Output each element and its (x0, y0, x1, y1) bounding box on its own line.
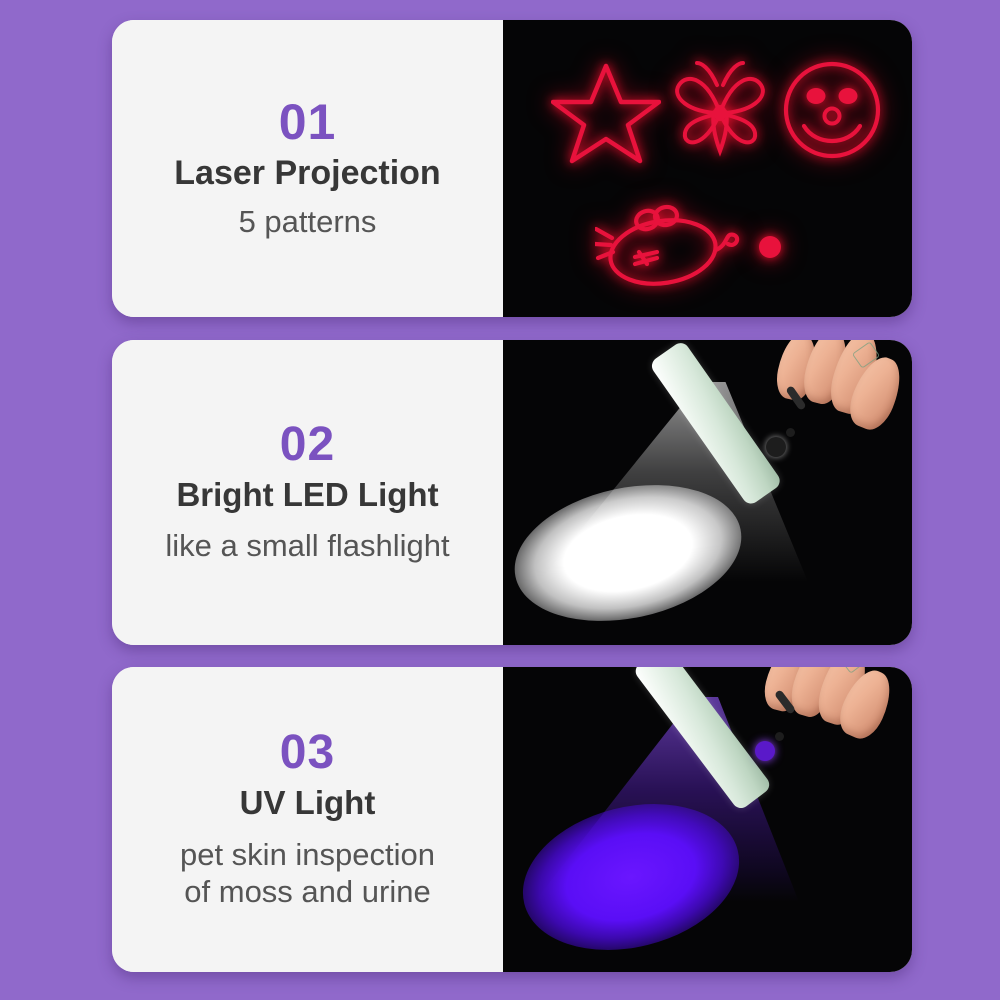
card-subtitle-line-2: of moss and urine (180, 873, 435, 910)
card-number: 02 (280, 421, 335, 470)
uv-beam-media (503, 667, 912, 972)
secondary-lens-icon (786, 428, 795, 437)
card-number: 03 (280, 729, 335, 778)
card-title: Bright LED Light (176, 476, 438, 514)
card-text-pane: 02 Bright LED Light like a small flashli… (112, 340, 503, 645)
card-number: 01 (279, 97, 337, 148)
card-title: Laser Projection (174, 154, 440, 193)
star-pattern-icon (551, 60, 661, 165)
card-text-pane: 01 Laser Projection 5 patterns (112, 20, 503, 317)
card-text-pane: 03 UV Light pet skin inspection of moss … (112, 667, 503, 972)
butterfly-pattern-icon (667, 55, 773, 165)
dot-pattern-icon (753, 230, 787, 264)
card-subtitle: pet skin inspection of moss and urine (180, 836, 435, 910)
secondary-lens-icon (775, 732, 784, 741)
uv-lens-icon (755, 741, 775, 761)
mouse-pattern-icon (595, 202, 740, 294)
laser-pattern-media (503, 20, 912, 317)
feature-card-bright-led-light[interactable]: 02 Bright LED Light like a small flashli… (112, 340, 912, 645)
card-subtitle-line-1: pet skin inspection (180, 836, 435, 873)
feature-card-uv-light[interactable]: 03 UV Light pet skin inspection of moss … (112, 667, 912, 972)
card-subtitle: 5 patterns (239, 204, 377, 240)
smiley-face-pattern-icon (780, 58, 884, 162)
card-title: UV Light (240, 784, 376, 822)
card-subtitle: like a small flashlight (165, 528, 449, 564)
lens-icon (766, 437, 786, 457)
feature-list-page: 01 Laser Projection 5 patterns (0, 0, 1000, 1000)
feature-card-laser-projection[interactable]: 01 Laser Projection 5 patterns (112, 20, 912, 317)
led-beam-media (503, 340, 912, 645)
